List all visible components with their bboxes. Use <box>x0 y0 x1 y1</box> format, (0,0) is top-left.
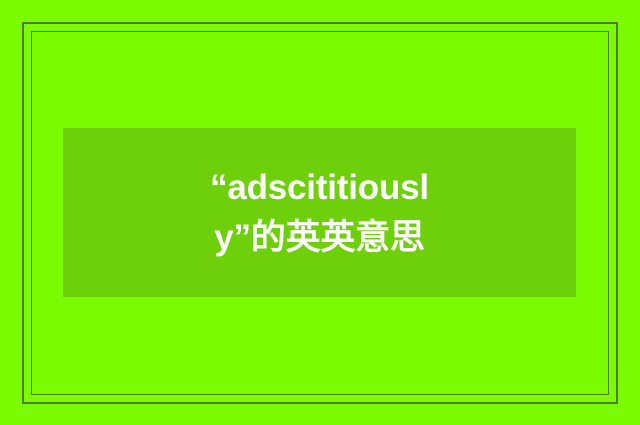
title-panel: “adscititiously”的英英意思 <box>63 128 576 297</box>
image-card: “adscititiously”的英英意思 <box>0 0 640 425</box>
page-title: “adscititiously”的英英意思 <box>195 163 445 263</box>
